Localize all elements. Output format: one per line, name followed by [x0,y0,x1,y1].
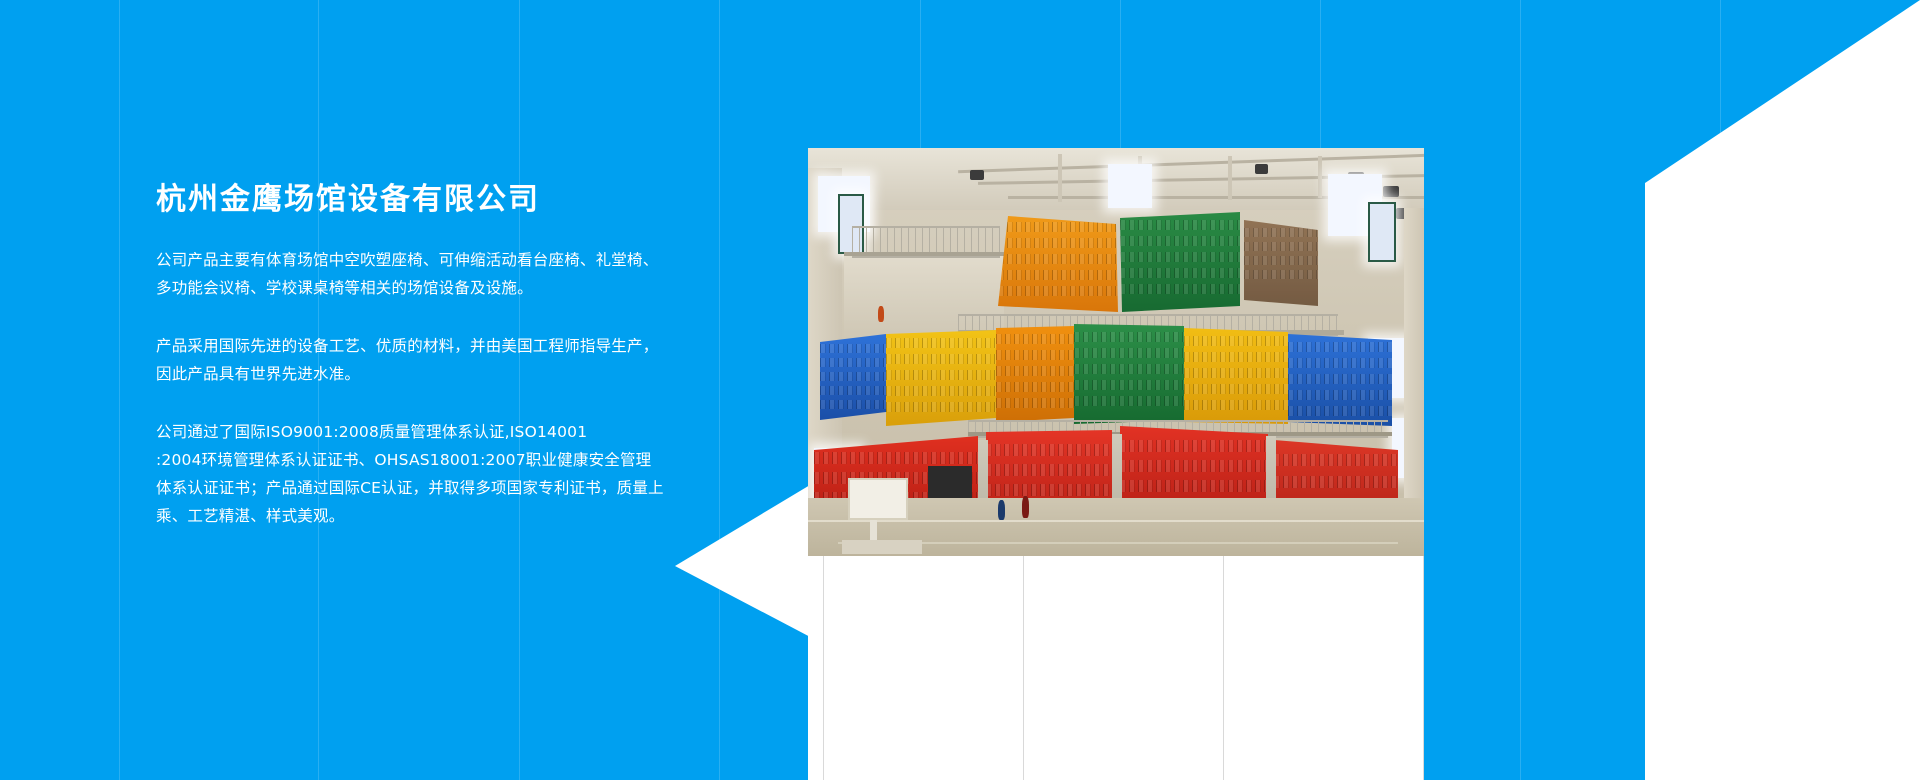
stadium-seating-photo [808,148,1424,556]
seat-block-upper-right [1244,220,1318,306]
person-figure [998,500,1005,520]
hoop-base [842,540,922,554]
intro-paragraph-products: 公司产品主要有体育场馆中空吹塑座椅、可伸缩活动看台座椅、礼堂椅、多功能会议椅、学… [156,246,666,302]
basketball-backboard [848,478,908,520]
seat-block-blue-mid-right [1288,330,1392,426]
intro-paragraph-certifications: 公司通过了国际ISO9001:2008质量管理体系认证,ISO14001:200… [156,418,666,530]
certification-text-part-1: 公司通过了国际ISO9001:2008质量管理体系认证,ISO14001 [156,423,587,441]
seat-block-blue-mid-left [820,334,886,420]
seat-block-yellow-mid-left [886,330,996,426]
page-title: 杭州金鹰场馆设备有限公司 [156,182,666,218]
intro-paragraph-quality: 产品采用国际先进的设备工艺、优质的材料，并由美国工程师指导生产，因此产品具有世界… [156,332,666,388]
certification-text-part-2: :2004环境管理体系认证证书、OHSAS18001:2007职业健康安全管理体… [156,451,664,525]
seat-block-green-mid [1074,324,1184,424]
seat-block-orange-upper [998,216,1118,312]
person-figure [878,306,884,322]
seat-block-yellow-mid-right [1184,326,1288,424]
seat-block-orange-mid [996,326,1074,422]
bottom-white-strip [808,556,1424,780]
hero-banner: 杭州金鹰场馆设备有限公司 公司产品主要有体育场馆中空吹塑座椅、可伸缩活动看台座椅… [0,0,1920,780]
person-figure [1022,496,1029,518]
seat-block-green-upper [1120,212,1240,312]
company-intro-block: 杭州金鹰场馆设备有限公司 公司产品主要有体育场馆中空吹塑座椅、可伸缩活动看台座椅… [156,182,666,530]
